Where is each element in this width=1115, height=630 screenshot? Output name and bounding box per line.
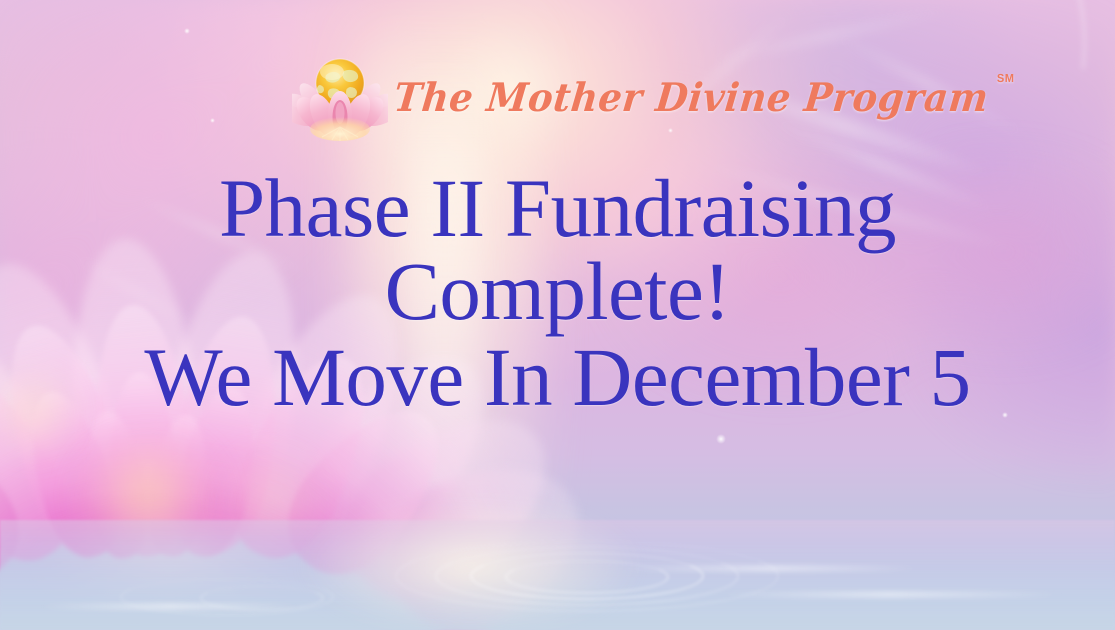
sparkle	[716, 434, 726, 444]
water-streak	[720, 592, 1060, 597]
headline-block: Phase II Fundraising Complete! We Move I…	[0, 168, 1115, 418]
lotus-globe-icon	[292, 53, 388, 141]
service-mark-label: SM	[997, 73, 1015, 85]
brand-logo[interactable]: The Mother Divine Program SM	[292, 52, 988, 142]
water-streak	[40, 604, 300, 609]
sparkle	[210, 118, 215, 123]
slide-canvas: The Mother Divine Program SM Phase II Fu…	[0, 0, 1115, 630]
logo-wordmark-text: The Mother Divine Program	[392, 73, 991, 120]
headline-line-2: Complete!	[0, 251, 1115, 332]
sparkle	[184, 28, 190, 34]
headline-line-3: We Move In December 5	[0, 337, 1115, 418]
water-streak	[620, 566, 920, 571]
logo-wordmark: The Mother Divine Program SM	[392, 77, 991, 116]
headline-line-1: Phase II Fundraising	[0, 168, 1115, 249]
water-ripple	[120, 578, 334, 616]
